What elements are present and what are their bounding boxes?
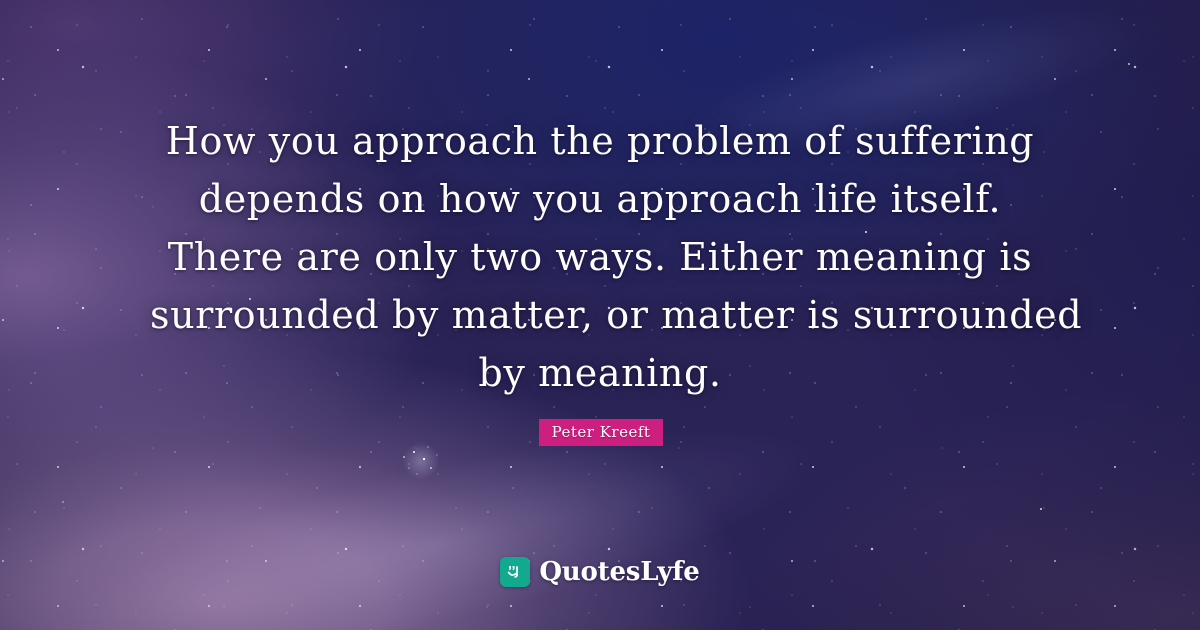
quote-line: depends on how you approach life itself. [150,170,1050,228]
author-badge[interactable]: Peter Kreeft [539,419,663,446]
quote-card: How you approach the problem of sufferin… [0,0,1200,630]
quote-smiley-icon [500,557,530,587]
brand-watermark[interactable]: QuotesLyfe [0,557,1200,587]
quote-line: by meaning. [150,344,1050,402]
quote-line: How you approach the problem of sufferin… [150,112,1050,170]
quote-text: How you approach the problem of sufferin… [0,112,1200,402]
card-content: How you approach the problem of sufferin… [0,0,1200,630]
quote-line: There are only two ways. Either meaning … [150,228,1050,286]
quote-line: surrounded by matter, or matter is surro… [150,286,1050,344]
brand-name: QuotesLyfe [539,559,699,585]
author-name: Peter Kreeft [552,425,651,440]
